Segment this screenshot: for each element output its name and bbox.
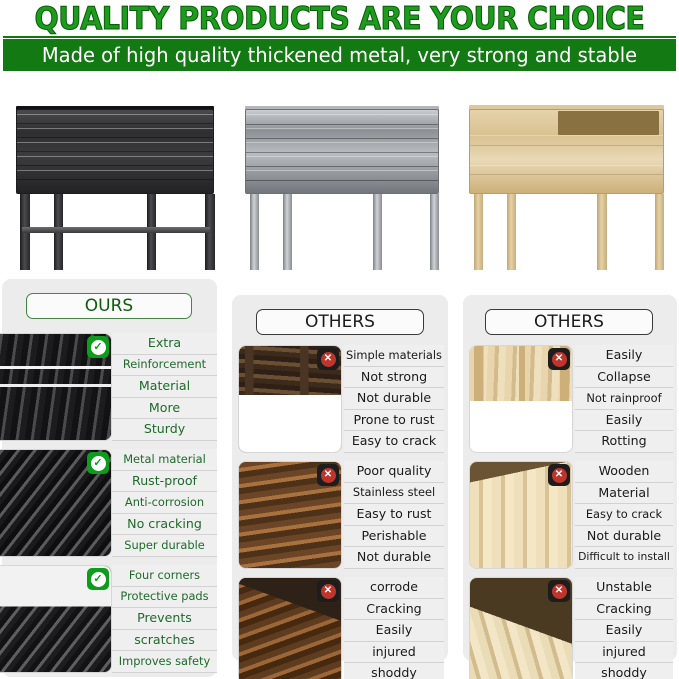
status-badge-x: ✕	[548, 580, 570, 602]
card-line: Easy to rust	[344, 504, 444, 526]
comparison-card: ✓ Metal material Rust-proof Anti-corrosi…	[2, 447, 217, 559]
card-image-tile: ✓	[0, 333, 112, 441]
card-line: Anti-corrosion	[112, 492, 217, 514]
x-circle-icon: ✕	[552, 468, 567, 483]
status-badge-check: ✓	[87, 568, 109, 590]
card-line: Not durable	[344, 388, 444, 410]
comparison-card: ✓ Four corners Protective pads Prevents …	[2, 563, 217, 675]
card-image-tile: ✓	[0, 565, 112, 673]
card-text-rows: Extra Reinforcement Material More Sturdy	[112, 333, 217, 441]
card-line: Cracking	[575, 599, 673, 621]
status-badge-x: ✕	[317, 464, 339, 486]
others-metal-card-list: ✕ Simple materials Not strong Not durabl…	[236, 343, 444, 679]
dark-metal-planter-illustration	[2, 78, 228, 274]
check-circle-icon: ✓	[91, 340, 106, 355]
card-line: Easily	[344, 620, 444, 642]
card-line: Unstable	[575, 577, 673, 599]
comparison-card: ✕ Poor quality Stainless steel Easy to r…	[236, 459, 444, 571]
hero-product-row	[0, 78, 679, 274]
comparison-card: ✕ Wooden Material Easy to crack Not dura…	[467, 459, 673, 571]
comparison-card: ✓ Extra Reinforcement Material More Stur…	[2, 331, 217, 443]
card-line: shoddy	[344, 663, 444, 679]
hero-product-dark-metal	[2, 78, 228, 274]
comparison-card: ✕ Easily Collapse Not rainproof Easily R…	[467, 343, 673, 455]
card-line: Prevents	[112, 608, 217, 630]
card-line: Reinforcement	[112, 355, 217, 377]
card-image-tile: ✕	[469, 461, 573, 569]
card-text-rows: Wooden Material Easy to crack Not durabl…	[575, 461, 673, 569]
card-line: More	[112, 398, 217, 420]
card-line: corrode	[344, 577, 444, 599]
card-line: Protective pads	[112, 587, 217, 609]
x-circle-icon: ✕	[552, 352, 567, 367]
check-circle-icon: ✓	[91, 572, 106, 587]
card-line: Sturdy	[112, 419, 217, 441]
status-badge-x: ✕	[548, 464, 570, 486]
status-badge-check: ✓	[87, 336, 109, 358]
card-line: Material	[575, 483, 673, 505]
card-line: Prone to rust	[344, 410, 444, 432]
card-text-rows: Four corners Protective pads Prevents sc…	[112, 565, 217, 673]
card-text-rows: Easily Collapse Not rainproof Easily Rot…	[575, 345, 673, 453]
x-circle-icon: ✕	[321, 468, 336, 483]
column-badge-label: OTHERS	[305, 312, 375, 332]
comparison-column-others-wood: OTHERS ✕ Easily Collapse Not rainproof E…	[463, 295, 677, 661]
card-line: Wooden	[575, 461, 673, 483]
card-line: Not durable	[575, 526, 673, 548]
card-line: Difficult to install	[575, 547, 673, 569]
page-subtitle: Made of high quality thickened metal, ve…	[20, 39, 659, 71]
status-badge-check: ✓	[87, 452, 109, 474]
card-text-rows: Metal material Rust-proof Anti-corrosion…	[112, 449, 217, 557]
card-line: Simple materials	[344, 345, 444, 367]
comparison-column-others-metal: OTHERS ✕ Simple materials Not strong Not…	[232, 295, 448, 661]
others-wood-card-list: ✕ Easily Collapse Not rainproof Easily R…	[467, 343, 673, 679]
column-badge-others-wood: OTHERS	[485, 309, 653, 335]
page-title: QUALITY PRODUCTS ARE YOUR CHOICE	[27, 2, 652, 36]
card-line: Easily	[575, 345, 673, 367]
check-circle-icon: ✓	[91, 456, 106, 471]
card-line: Stainless steel	[344, 483, 444, 505]
x-circle-icon: ✕	[321, 352, 336, 367]
card-line: Rotting	[575, 431, 673, 453]
card-line: No cracking	[112, 514, 217, 536]
card-line: Not durable	[344, 547, 444, 569]
card-image-tile: ✕	[238, 345, 342, 453]
card-line: Easily	[575, 620, 673, 642]
card-line: Collapse	[575, 367, 673, 389]
status-badge-x: ✕	[548, 348, 570, 370]
card-line: Perishable	[344, 526, 444, 548]
card-image-tile: ✕	[238, 461, 342, 569]
card-image-tile: ✕	[238, 577, 342, 679]
status-badge-x: ✕	[317, 580, 339, 602]
comparison-column-ours: OURS ✓ Extra Reinforcement Material More	[2, 279, 217, 677]
card-line: Not strong	[344, 367, 444, 389]
card-line: Extra	[112, 333, 217, 355]
card-text-rows: corrode Cracking Easily injured shoddy	[344, 577, 444, 679]
card-line: Material	[112, 376, 217, 398]
card-text-rows: Poor quality Stainless steel Easy to rus…	[344, 461, 444, 569]
card-line: Improves safety	[112, 651, 217, 673]
hero-product-wood	[456, 78, 677, 274]
hero-product-galvanized	[232, 78, 452, 274]
card-line: Not rainproof	[575, 388, 673, 410]
card-line: shoddy	[575, 663, 673, 679]
column-badge-label: OURS	[85, 296, 133, 316]
column-badge-ours: OURS	[26, 293, 192, 319]
column-badge-others-metal: OTHERS	[256, 309, 424, 335]
subtitle-bar: Made of high quality thickened metal, ve…	[3, 39, 676, 71]
column-badge-label: OTHERS	[534, 312, 604, 332]
card-text-rows: Unstable Cracking Easily injured shoddy	[575, 577, 673, 679]
card-line: Rust-proof	[112, 471, 217, 493]
card-line: injured	[575, 642, 673, 664]
galvanized-planter-illustration	[232, 78, 452, 274]
card-line: Cracking	[344, 599, 444, 621]
card-line: Four corners	[112, 565, 217, 587]
card-line: Easy to crack	[575, 504, 673, 526]
card-line: Easy to crack	[344, 431, 444, 453]
wood-planter-illustration	[456, 78, 677, 274]
card-line: scratches	[112, 630, 217, 652]
card-line: injured	[344, 642, 444, 664]
status-badge-x: ✕	[317, 348, 339, 370]
card-image-tile: ✕	[469, 577, 573, 679]
ours-card-list: ✓ Extra Reinforcement Material More Stur…	[2, 331, 217, 679]
card-line: Super durable	[112, 535, 217, 557]
infographic-page: QUALITY PRODUCTS ARE YOUR CHOICE Made of…	[0, 0, 679, 679]
card-line: Poor quality	[344, 461, 444, 483]
card-image-tile: ✕	[469, 345, 573, 453]
comparison-card: ✕ Unstable Cracking Easily injured shodd…	[467, 575, 673, 679]
comparison-card: ✕ corrode Cracking Easily injured shoddy	[236, 575, 444, 679]
title-divider	[3, 36, 676, 38]
card-line: Easily	[575, 410, 673, 432]
x-circle-icon: ✕	[321, 584, 336, 599]
x-circle-icon: ✕	[552, 584, 567, 599]
card-text-rows: Simple materials Not strong Not durable …	[344, 345, 444, 453]
card-line: Metal material	[112, 449, 217, 471]
comparison-card: ✕ Simple materials Not strong Not durabl…	[236, 343, 444, 455]
comparison-section: OURS ✓ Extra Reinforcement Material More	[0, 274, 679, 679]
card-image-tile: ✓	[0, 449, 112, 557]
